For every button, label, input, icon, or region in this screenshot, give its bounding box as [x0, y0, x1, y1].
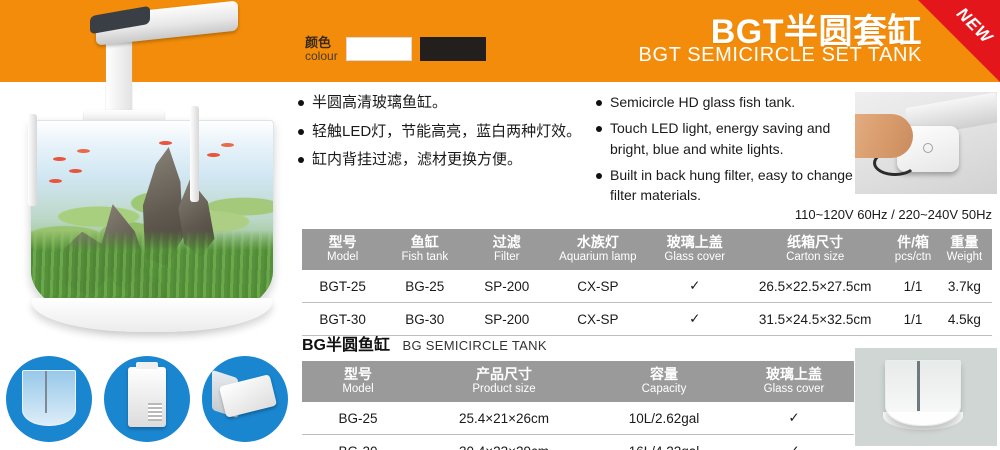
col-pcs-ctn-cn: 件/箱	[891, 234, 935, 251]
check-icon: ✓	[734, 435, 854, 450]
col-fish-tank-cn: 鱼缸	[385, 234, 464, 251]
cell-model: BG-25	[302, 402, 414, 435]
thumbnail-back-hung-filter[interactable]	[104, 356, 190, 442]
feature-item-cn: 轻触LED灯，节能高亮，蓝白两种灯效。	[298, 121, 586, 144]
tank-corner-post-left	[28, 114, 37, 206]
tank-photo-body	[885, 360, 961, 426]
touch-led-photo	[855, 92, 997, 194]
cell-product-size: 25.4×21×26cm	[414, 402, 594, 435]
col-aquarium-lamp-en: Aquarium lamp	[549, 251, 646, 265]
col-fish-tank: 鱼缸 Fish tank	[383, 229, 466, 270]
colour-swatch-black[interactable]	[420, 37, 486, 61]
col-glass-cover-en: Glass cover	[736, 383, 852, 397]
tank-corner-post-right	[190, 106, 199, 202]
section2-heading: BG半圆鱼缸 BG SEMICIRCLE TANK	[302, 331, 547, 355]
col-weight: 重量 Weight	[937, 229, 992, 270]
fish	[221, 143, 234, 147]
feature-item-en: Touch LED light, energy saving and brigh…	[596, 118, 858, 159]
check-icon: ✓	[734, 402, 854, 435]
cell-model: BGT-25	[302, 270, 383, 303]
fish	[207, 153, 220, 157]
table-header-row: 型号 Model 产品尺寸 Product size 容量 Capacity 玻…	[302, 361, 854, 402]
bare-tank-photo	[855, 348, 997, 446]
col-aquarium-lamp-cn: 水族灯	[549, 234, 646, 251]
glass-tank-icon	[22, 370, 76, 426]
col-model-cn: 型号	[304, 234, 381, 251]
colour-swatch-group: 颜色 colour	[305, 36, 494, 62]
colour-swatch-white[interactable]	[346, 37, 412, 61]
col-capacity-en: Capacity	[596, 383, 732, 397]
main-spec-table: 型号 Model 鱼缸 Fish tank 过滤 Filter 水族灯 Aqua…	[302, 229, 992, 336]
check-icon: ✓	[648, 303, 741, 336]
col-glass-cover-cn: 玻璃上盖	[650, 234, 739, 251]
col-glass-cover-cn: 玻璃上盖	[736, 366, 852, 383]
col-pcs-ctn: 件/箱 pcs/ctn	[889, 229, 937, 270]
col-product-size-cn: 产品尺寸	[416, 366, 592, 383]
main-aquarium-photo	[18, 2, 284, 332]
component-thumbnail-group	[2, 352, 292, 448]
table-header-row: 型号 Model 鱼缸 Fish tank 过滤 Filter 水族灯 Aqua…	[302, 229, 992, 270]
col-capacity-cn: 容量	[596, 366, 732, 383]
thumbnail-semicircle-glass-tank[interactable]	[6, 356, 92, 442]
cell-carton-size: 31.5×24.5×32.5cm	[741, 303, 889, 336]
feature-item-cn: 半圆高清玻璃鱼缸。	[298, 92, 586, 115]
cell-fish-tank: BG-25	[383, 270, 466, 303]
colour-label-cn: 颜色	[305, 36, 338, 50]
hand-finger	[855, 114, 913, 158]
col-weight-cn: 重量	[939, 234, 990, 251]
cell-weight: 3.7kg	[937, 270, 992, 303]
colour-label-en: colour	[305, 50, 338, 63]
col-model: 型号 Model	[302, 361, 414, 402]
col-aquarium-lamp: 水族灯 Aquarium lamp	[547, 229, 648, 270]
col-model-cn: 型号	[304, 366, 412, 383]
col-carton-size: 纸箱尺寸 Carton size	[741, 229, 889, 270]
cell-aquarium-lamp: CX-SP	[547, 270, 648, 303]
section2-title-cn: BG半圆鱼缸	[302, 337, 390, 354]
led-lamp-head	[96, 1, 238, 46]
water-surface	[31, 121, 273, 179]
col-glass-cover: 玻璃上盖 Glass cover	[648, 229, 741, 270]
tank-base	[32, 298, 272, 332]
col-pcs-ctn-en: pcs/ctn	[891, 251, 935, 265]
table-row: BG-25 25.4×21×26cm 10L/2.62gal ✓	[302, 402, 854, 435]
feature-item-en: Semicircle HD glass fish tank.	[596, 92, 858, 112]
col-product-size: 产品尺寸 Product size	[414, 361, 594, 402]
cell-pcs-ctn: 1/1	[889, 303, 937, 336]
aquatic-plants-foreground	[31, 230, 273, 308]
product-catalog-page: BGT半圆套缸 BGT SEMICIRCLE SET TANK NEW 颜色 c…	[0, 0, 1000, 450]
cell-carton-size: 26.5×22.5×27.5cm	[741, 270, 889, 303]
col-capacity: 容量 Capacity	[594, 361, 734, 402]
col-carton-size-en: Carton size	[743, 251, 887, 265]
cell-product-size: 30.4×23×29cm	[414, 435, 594, 450]
cell-filter: SP-200	[466, 270, 547, 303]
cell-model: BG-30	[302, 435, 414, 450]
col-weight-en: Weight	[939, 251, 990, 265]
thumbnail-glass-cover-lid[interactable]	[202, 356, 288, 442]
table-row: BG-30 30.4×23×29cm 16L/4.22gal ✓	[302, 435, 854, 450]
filter-grill	[148, 403, 162, 421]
fish	[69, 169, 82, 173]
fish	[159, 141, 172, 145]
colour-label: 颜色 colour	[305, 36, 338, 62]
col-filter-cn: 过滤	[468, 234, 545, 251]
cell-capacity: 10L/2.62gal	[594, 402, 734, 435]
page-title-en: BGT SEMICIRCLE SET TANK	[639, 44, 923, 67]
table-row: BGT-25 BG-25 SP-200 CX-SP ✓ 26.5×22.5×27…	[302, 270, 992, 303]
new-badge-ribbon: NEW	[918, 0, 1000, 82]
check-icon: ✓	[648, 270, 741, 303]
feature-item-cn: 缸内背挂过滤，滤材更换方便。	[298, 149, 586, 172]
col-glass-cover-en: Glass cover	[650, 251, 739, 265]
col-model: 型号 Model	[302, 229, 383, 270]
feature-list-en: Semicircle HD glass fish tank. Touch LED…	[596, 92, 858, 211]
cell-weight: 4.5kg	[937, 303, 992, 336]
section2-title-en: BG SEMICIRCLE TANK	[402, 338, 546, 353]
col-carton-size-cn: 纸箱尺寸	[743, 234, 887, 251]
col-product-size-en: Product size	[416, 383, 592, 397]
tank-spec-table: 型号 Model 产品尺寸 Product size 容量 Capacity 玻…	[302, 361, 854, 450]
col-filter-en: Filter	[468, 251, 545, 265]
aquarium-tank-body	[30, 120, 274, 325]
voltage-spec: 110~120V 60Hz / 220~240V 50Hz	[795, 207, 992, 222]
col-model-en: Model	[304, 251, 381, 265]
col-filter: 过滤 Filter	[466, 229, 547, 270]
col-fish-tank-en: Fish tank	[385, 251, 464, 265]
feature-list-cn: 半圆高清玻璃鱼缸。 轻触LED灯，节能高亮，蓝白两种灯效。 缸内背挂过滤，滤材更…	[298, 92, 586, 178]
fish	[77, 149, 90, 153]
col-glass-cover: 玻璃上盖 Glass cover	[734, 361, 854, 402]
lamp-arm	[106, 36, 132, 114]
cell-aquarium-lamp: CX-SP	[547, 303, 648, 336]
col-model-en: Model	[304, 383, 412, 397]
filter-icon	[128, 367, 166, 427]
fish	[49, 179, 62, 183]
feature-item-en: Built in back hung filter, easy to chang…	[596, 165, 858, 206]
cell-pcs-ctn: 1/1	[889, 270, 937, 303]
cell-capacity: 16L/4.22gal	[594, 435, 734, 450]
fish	[53, 157, 66, 161]
